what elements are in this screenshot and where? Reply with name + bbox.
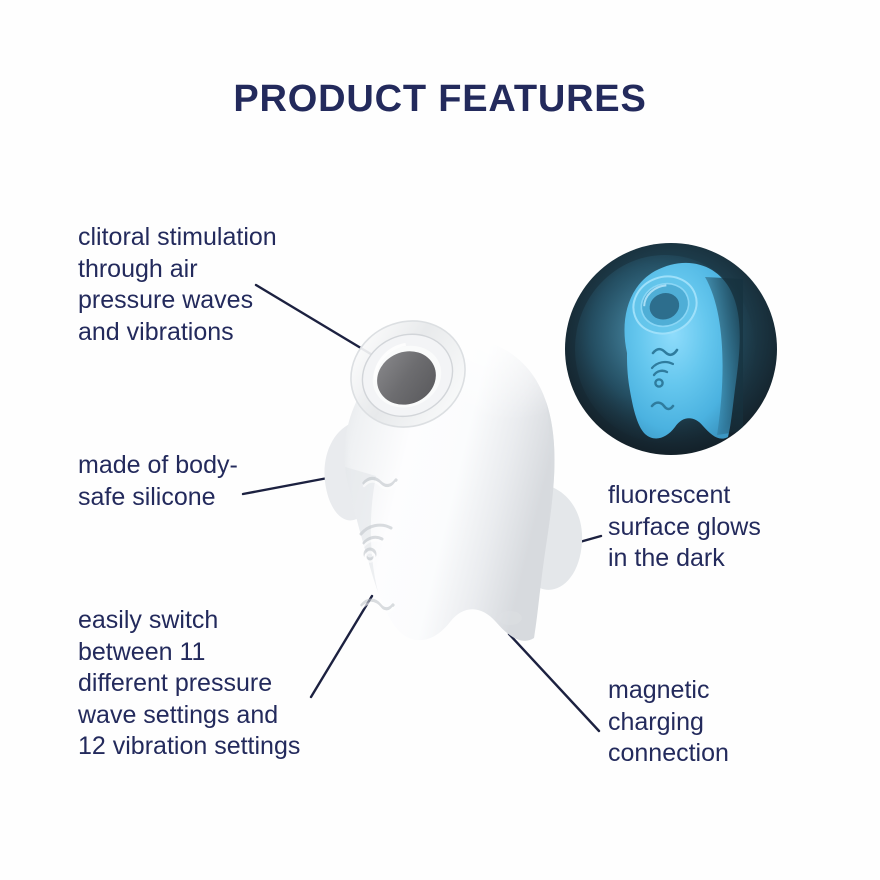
product-features-infographic: PRODUCT FEATURES (0, 0, 880, 880)
feature-label-magnetic-charging: magnetic charging connection (608, 675, 818, 770)
page-title: PRODUCT FEATURES (0, 78, 880, 121)
feature-label-clitoral-stimulation: clitoral stimulation through air pressur… (78, 222, 348, 348)
feature-label-body-safe-silicone: made of body- safe silicone (78, 450, 328, 513)
feature-label-settings: easily switch between 11 different press… (78, 605, 368, 763)
glow-inset-illustration (565, 243, 777, 455)
feature-label-fluorescent: fluorescent surface glows in the dark (608, 480, 818, 575)
glow-in-the-dark-inset (565, 243, 777, 455)
charging-contacts (498, 611, 522, 625)
